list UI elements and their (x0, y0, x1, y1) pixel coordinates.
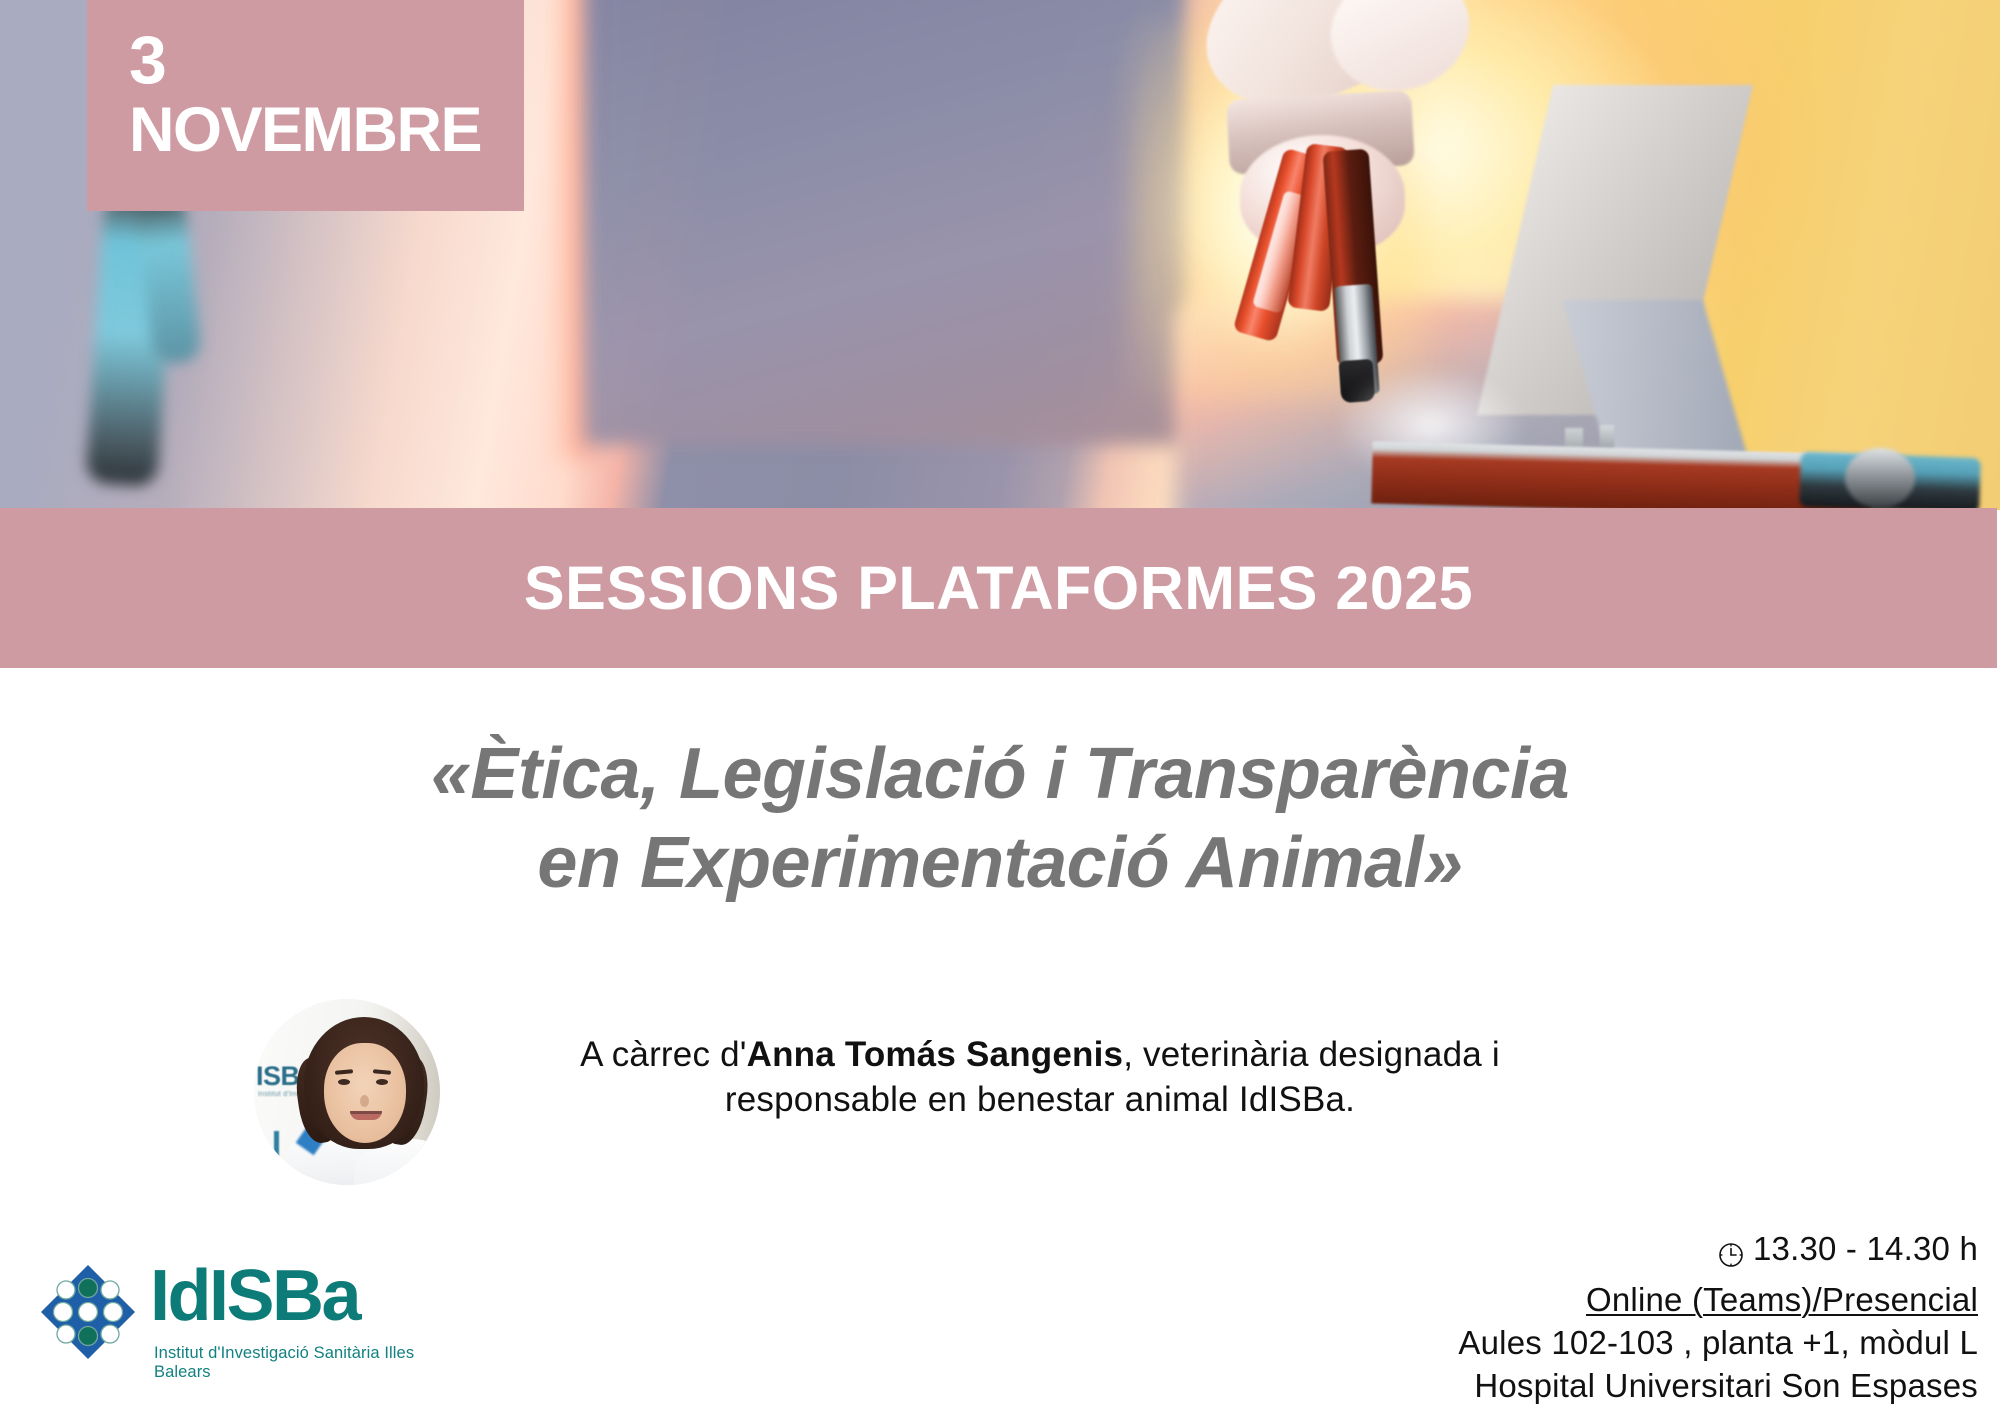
series-banner: SESSIONS PLATAFORMES 2025 (0, 508, 1997, 668)
speaker-section: ISBa Institut d'Investigació Sanitària I… (0, 995, 2000, 1185)
speaker-name: Anna Tomás Sangenis (747, 1035, 1124, 1074)
date-month: NOVEMBRE (129, 97, 524, 163)
microscope-stage (1371, 441, 1872, 510)
blurred-monitor (585, 0, 1185, 445)
event-time: 13.30 - 14.30 h (1753, 1228, 1978, 1271)
avatar: ISBa Institut d'Investigació Sanitària I… (254, 999, 440, 1185)
stage-knob-dial (1845, 448, 1915, 508)
session-title-line-2: en Experimentació Animal» (0, 819, 2000, 908)
date-badge: 3 NOVEMBRE (87, 0, 524, 211)
speaker-prefix: A càrrec d' (580, 1035, 746, 1074)
avatar-nose (360, 1095, 369, 1107)
event-modality-row: Online (Teams)/Presencial (1458, 1279, 1978, 1322)
date-day: 3 (129, 28, 524, 93)
event-rooms: Aules 102-103 , planta +1, mòdul L (1458, 1322, 1978, 1365)
event-modality: Online (Teams)/Presencial (1586, 1281, 1978, 1318)
idisba-diamond-icon (40, 1264, 136, 1360)
avatar-face (324, 1043, 406, 1143)
avatar-background-mark (274, 1131, 279, 1167)
speaker-description: A càrrec d'Anna Tomás Sangenis, veterinà… (520, 1033, 1560, 1123)
clock-icon (1718, 1236, 1744, 1262)
idisba-tagline: Institut d'Investigació Sanitària Illes … (154, 1344, 460, 1382)
avatar-mouth (350, 1111, 382, 1120)
event-venue: Hospital Universitari Son Espases (1458, 1365, 1978, 1408)
speaker-suffix: , veterinària designada i (1123, 1035, 1500, 1074)
idisba-wordmark: IdISBa (150, 1260, 359, 1332)
avatar-eye-right (376, 1079, 388, 1085)
avatar-eye-left (338, 1079, 350, 1085)
series-title: SESSIONS PLATAFORMES 2025 (524, 553, 1473, 623)
session-title-line-1: «Ètica, Legislació i Transparència (0, 730, 2000, 819)
speaker-role-line: responsable en benestar animal IdISBa. (725, 1080, 1355, 1119)
event-time-row: 13.30 - 14.30 h (1718, 1228, 1978, 1271)
idisba-logo: IdISBa Institut d'Investigació Sanitària… (40, 1258, 460, 1383)
event-details: 13.30 - 14.30 h Online (Teams)/Presencia… (1458, 1228, 1978, 1408)
session-title: «Ètica, Legislació i Transparència en Ex… (0, 730, 2000, 907)
